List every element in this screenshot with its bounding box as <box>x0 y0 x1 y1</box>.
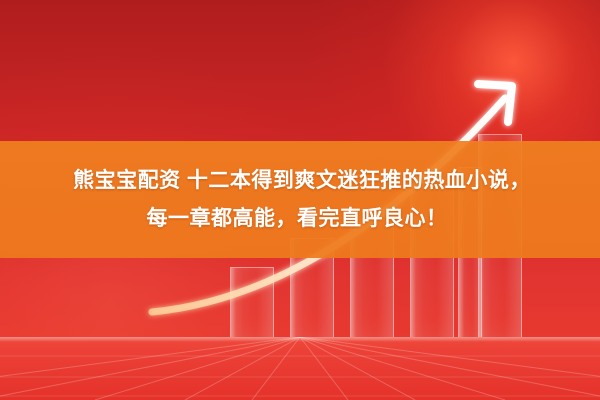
headline-container: 熊宝宝配资 十二本得到爽文迷狂推的热血小说， 每一章都高能，看完直呼良心！ <box>0 141 600 258</box>
promo-banner: 熊宝宝配资 十二本得到爽文迷狂推的热血小说， 每一章都高能，看完直呼良心！ <box>0 0 600 400</box>
headline-line-2: 每一章都高能，看完直呼良心！ <box>147 200 454 238</box>
chart-bar <box>230 267 274 337</box>
headline-line-1: 熊宝宝配资 十二本得到爽文迷狂推的热血小说， <box>69 162 531 200</box>
